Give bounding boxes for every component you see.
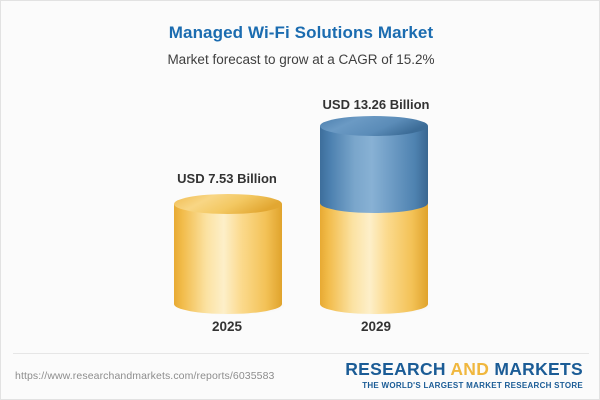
bar-cylinder-2025[interactable] <box>172 194 284 316</box>
chart-canvas: Managed Wi-Fi Solutions Market Market fo… <box>0 0 600 400</box>
logo-word-and: AND <box>450 359 489 379</box>
footer-divider <box>13 353 589 354</box>
bar-segment-growth-2029 <box>320 126 428 213</box>
logo-word-research: RESEARCH <box>345 359 446 379</box>
bar-value-label-2029: USD 13.26 Billion <box>266 97 486 112</box>
bar-value-label-2025: USD 7.53 Billion <box>117 171 337 186</box>
logo-tagline: THE WORLD'S LARGEST MARKET RESEARCH STOR… <box>345 382 583 390</box>
source-url[interactable]: https://www.researchandmarkets.com/repor… <box>15 370 274 382</box>
logo-wordmark: RESEARCH AND MARKETS <box>345 361 583 379</box>
research-and-markets-logo[interactable]: RESEARCH AND MARKETS THE WORLD'S LARGEST… <box>345 361 583 390</box>
bar-cylinder-2029[interactable] <box>318 115 430 316</box>
plot-area: USD 7.53 Billion <box>1 1 600 353</box>
bar-segment-base-2029 <box>320 203 428 314</box>
category-label-2029: 2029 <box>266 319 486 334</box>
logo-word-markets: MARKETS <box>494 359 583 379</box>
